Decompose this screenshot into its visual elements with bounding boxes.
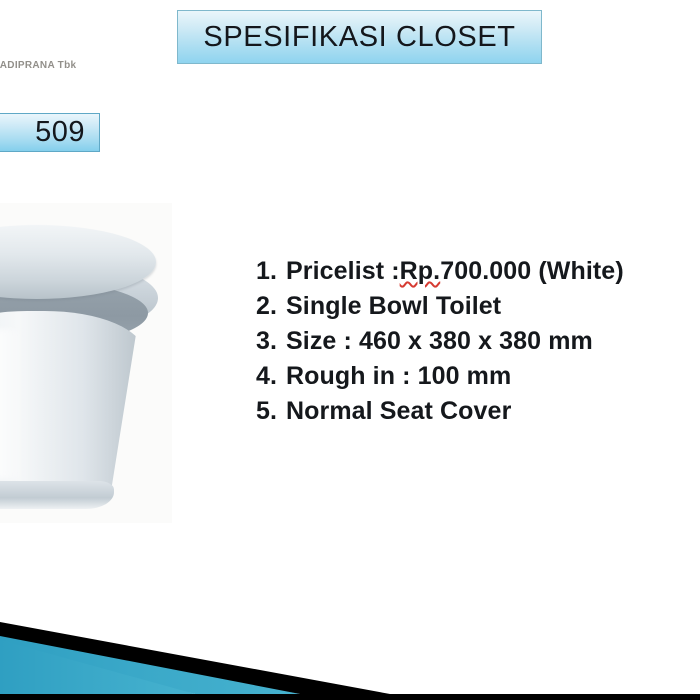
model-code-badge: 509: [0, 113, 100, 152]
spec-item-size: 3. Size : 460 x 380 x 380 mm: [256, 324, 700, 359]
spec-number: 3.: [256, 324, 286, 359]
bottom-decoration: [0, 610, 700, 700]
spec-item-pricelist: 1. Pricelist : Rp. 700.000 (White): [256, 254, 700, 289]
slide-canvas: . ADIPRANA Tbk SPESIFIKASI CLOSET 509 1.…: [0, 0, 700, 700]
spec-flagged-word: Rp.: [400, 254, 441, 289]
spec-item-bowl-type: 2. Single Bowl Toilet: [256, 289, 700, 324]
spec-number: 4.: [256, 359, 286, 394]
toilet-illustration: [0, 219, 164, 519]
spec-number: 1.: [256, 254, 286, 289]
bottom-black-bar: [0, 694, 700, 700]
company-name-text: . ADIPRANA Tbk: [0, 60, 76, 71]
title-banner: SPESIFIKASI CLOSET: [177, 10, 542, 64]
spec-value: Size : 460 x 380 x 380 mm: [286, 324, 593, 359]
spec-label: Pricelist :: [286, 254, 400, 289]
spec-number: 5.: [256, 394, 286, 429]
spec-value: 700.000 (White): [440, 254, 624, 289]
spec-item-rough-in: 4. Rough in : 100 mm: [256, 359, 700, 394]
spec-value: Normal Seat Cover: [286, 394, 511, 429]
page-title: SPESIFIKASI CLOSET: [203, 21, 515, 54]
spec-number: 2.: [256, 289, 286, 324]
spec-value: Rough in : 100 mm: [286, 359, 511, 394]
product-photo: [0, 203, 172, 523]
toilet-base: [0, 481, 114, 509]
toilet-bowl-highlight: [0, 329, 24, 479]
spec-value: Single Bowl Toilet: [286, 289, 501, 324]
bottom-decoration-shape: [0, 610, 700, 700]
specification-list: 1. Pricelist : Rp. 700.000 (White) 2. Si…: [256, 254, 700, 429]
spec-item-seat-cover: 5. Normal Seat Cover: [256, 394, 700, 429]
model-code-text: 509: [35, 116, 85, 149]
